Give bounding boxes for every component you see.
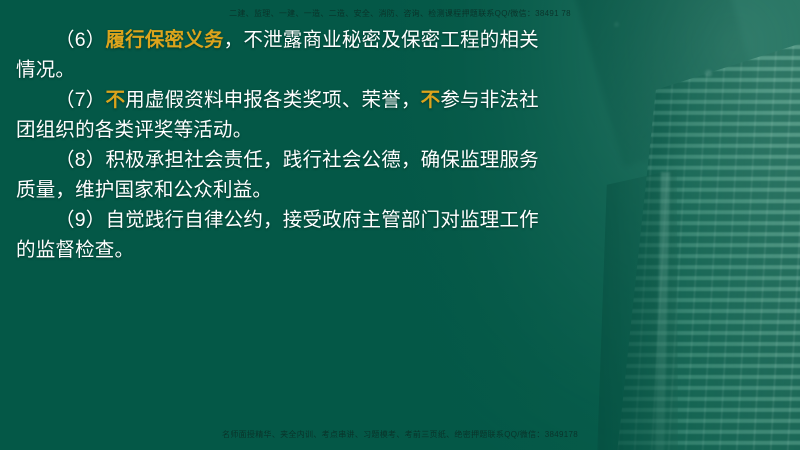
top-banner-text: 二建、监理、一建、一造、二造、安全、消防、咨询、检测课程押题联系QQ/微信：38… [0,8,800,19]
highlighted-text: 履行保密义务 [105,29,223,51]
slide-body: （6）履行保密义务，不泄露商业秘密及保密工程的相关情况。 （7）不用虚假资料申报… [16,25,556,265]
item-7: （7）不用虚假资料申报各类奖项、荣誉，不参与非法社团组织的各类评奖等活动。 [16,85,556,145]
bottom-banner-text: 名师面授精华、夹全内训、考点串讲、习题模考、考前三页纸、绝密押题联系QQ/微信：… [0,429,800,440]
presentation-slide: 二建、监理、一建、一造、二造、安全、消防、咨询、检测课程押题联系QQ/微信：38… [0,0,800,450]
skyscraper-mid [591,167,683,450]
skyscraper-right-mullions [616,34,800,450]
roofline-streak [574,0,768,167]
highlighted-text: 不 [421,89,441,111]
lens-flare-dot [705,70,712,77]
item-8: （8）积极承担社会责任，践行社会公德，确保监理服务质量，维护国家和公众利益。 [16,145,556,205]
item-marker: （8） [55,149,105,171]
item-6: （6）履行保密义务，不泄露商业秘密及保密工程的相关情况。 [16,25,556,85]
skyscraper-mid-glass-edge [655,172,670,450]
highlighted-text: 不 [105,89,125,111]
skyscraper-right [616,34,800,450]
lens-flare-dot [614,22,619,27]
item-marker: （7） [55,89,105,111]
item-marker: （6） [55,29,105,51]
item-9: （9）自觉践行自律公约，接受政府主管部门对监理工作的监督检查。 [16,205,556,265]
body-text: 用虚假资料申报各类奖项、荣誉， [125,89,421,111]
item-marker: （9） [55,209,105,231]
